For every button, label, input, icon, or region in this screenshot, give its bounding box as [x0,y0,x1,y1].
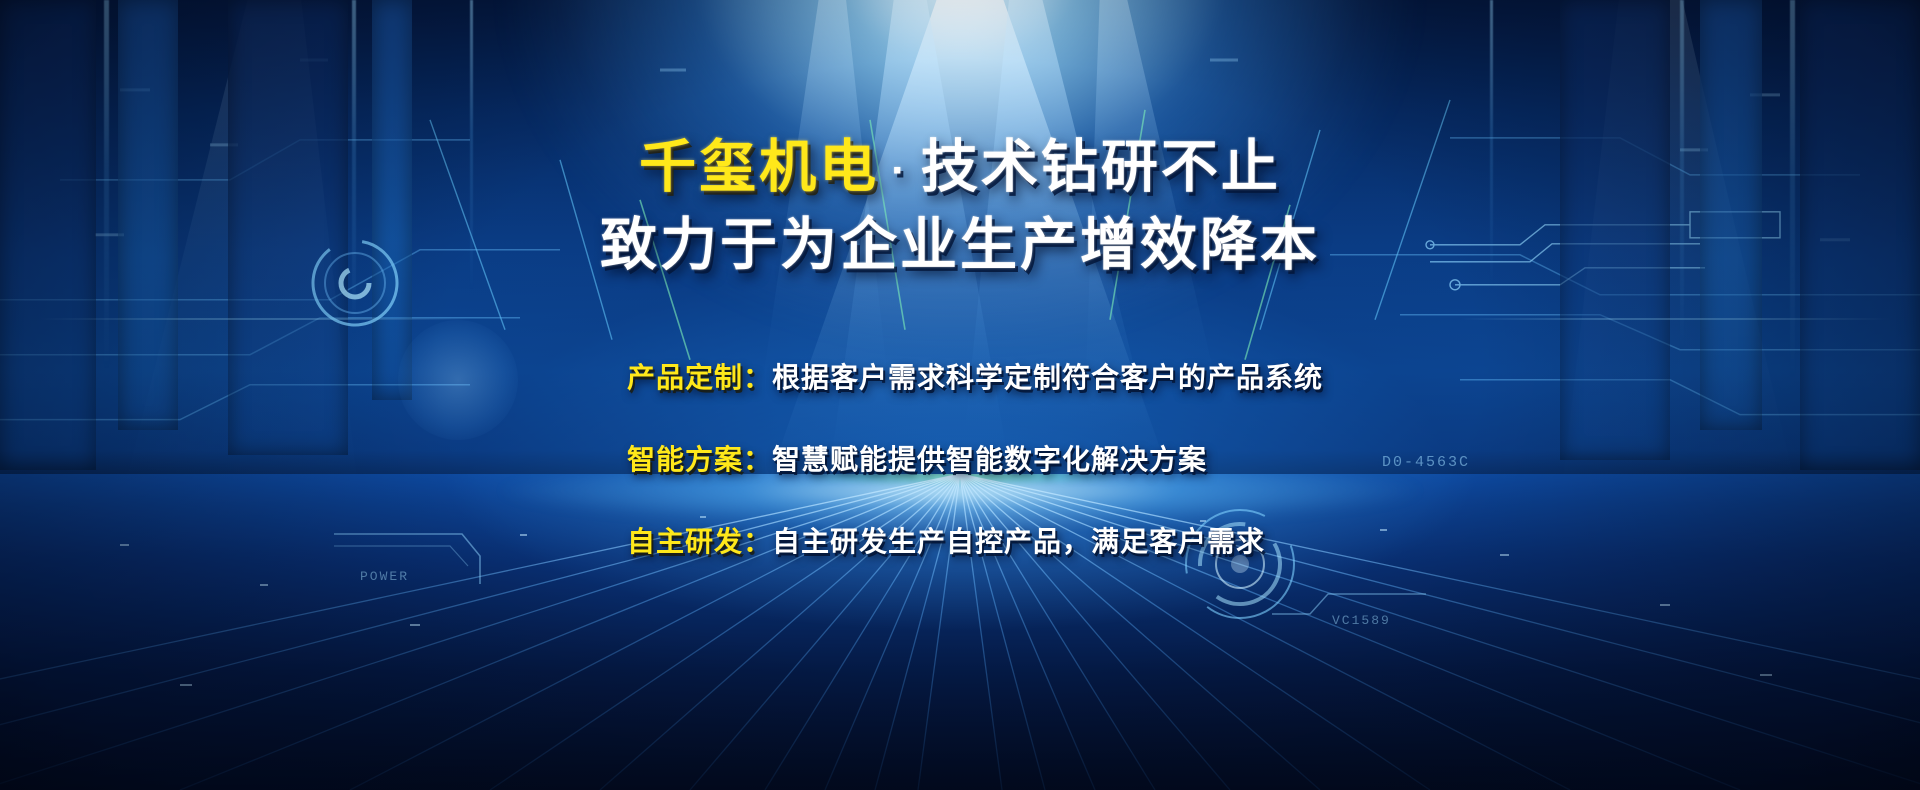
feature-label: 智能方案： [627,444,772,475]
feature-list: 产品定制：根据客户需求科学定制符合客户的产品系统 智能方案：智慧赋能提供智能数字… [0,358,1920,562]
feature-label: 产品定制： [627,362,772,393]
headline-line-1-rest: 技术钻研不止 [921,135,1281,199]
headline-line-2: 致力于为企业生产增效降本 [0,208,1920,282]
hero-banner: POWER VC1589 D0-4563C 千玺机电·技术钻研不止 致力于为企业… [0,0,1920,790]
feature-text: 自主研发生产自控产品，满足客户需求 [772,526,1265,557]
feature-item: 自主研发：自主研发生产自控产品，满足客户需求 [0,522,1920,562]
headline-group: 千玺机电·技术钻研不止 致力于为企业生产增效降本 [0,130,1920,282]
headline-separator: · [879,146,921,195]
feature-label: 自主研发： [627,526,772,557]
feature-text: 智慧赋能提供智能数字化解决方案 [772,444,1207,475]
brand-name: 千玺机电 [639,135,879,199]
banner-content: 千玺机电·技术钻研不止 致力于为企业生产增效降本 产品定制：根据客户需求科学定制… [0,0,1920,790]
feature-item: 产品定制：根据客户需求科学定制符合客户的产品系统 [0,358,1920,398]
feature-text: 根据客户需求科学定制符合客户的产品系统 [772,362,1323,393]
feature-item: 智能方案：智慧赋能提供智能数字化解决方案 [0,440,1920,480]
headline-line-1: 千玺机电·技术钻研不止 [0,130,1920,208]
